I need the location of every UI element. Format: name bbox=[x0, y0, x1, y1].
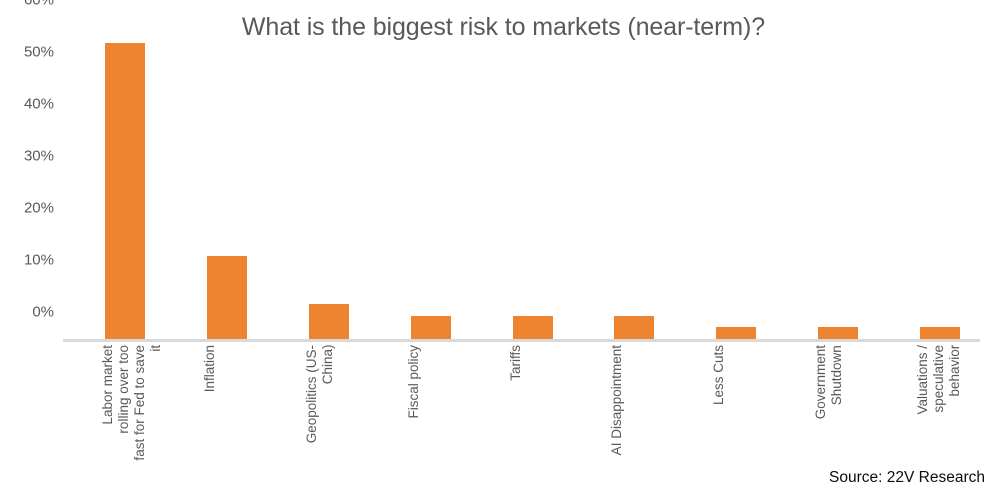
bar bbox=[513, 316, 553, 339]
x-axis-tick-label: Inflation bbox=[202, 345, 284, 493]
x-axis-tick-label-text: Geopolitics (US- China) bbox=[304, 345, 336, 443]
x-axis-baseline bbox=[63, 339, 980, 342]
y-axis-tick-label: 10% bbox=[24, 252, 54, 269]
y-axis-tick-label: 50% bbox=[24, 44, 54, 61]
x-axis-tick-label-text: Inflation bbox=[202, 345, 218, 392]
x-axis-tick-label: Labor market rolling over too fast for F… bbox=[100, 345, 182, 493]
bar bbox=[614, 316, 654, 339]
x-axis-tick-label-text: Tariffs bbox=[508, 345, 524, 381]
bar bbox=[411, 316, 451, 339]
y-axis-tick-label: 40% bbox=[24, 96, 54, 113]
y-axis-tick-label: 0% bbox=[32, 304, 54, 321]
x-axis-tick-label: Less Cuts bbox=[711, 345, 793, 493]
x-axis-tick-label-text: Fiscal policy bbox=[406, 345, 422, 419]
x-axis-tick-label: AI Disappointment bbox=[609, 345, 691, 493]
x-axis-tick-label: Tariffs bbox=[508, 345, 590, 493]
x-axis-tick-label-text: Less Cuts bbox=[711, 345, 727, 405]
x-axis-tick-label-text: Valuations / speculative behavior bbox=[915, 345, 963, 415]
bar bbox=[207, 256, 247, 339]
y-axis-tick-label: 30% bbox=[24, 148, 54, 165]
x-axis-tick-label: Fiscal policy bbox=[406, 345, 488, 493]
x-axis-tick-label: Geopolitics (US- China) bbox=[304, 345, 386, 493]
bar bbox=[716, 327, 756, 339]
y-axis: 60%50%40%30%20%10%0% bbox=[0, 0, 63, 342]
y-axis-tick-label: 60% bbox=[24, 0, 54, 9]
x-axis-tick-label-text: Labor market rolling over too fast for F… bbox=[100, 345, 164, 461]
bar bbox=[309, 304, 349, 339]
x-axis-tick-label-text: Government Shutdown bbox=[813, 345, 845, 419]
bar bbox=[818, 327, 858, 339]
bar bbox=[920, 327, 960, 339]
source-note: Source: 22V Research bbox=[829, 469, 985, 487]
bar bbox=[105, 43, 145, 339]
y-axis-tick-label: 20% bbox=[24, 200, 54, 217]
bar-chart-figure: What is the biggest risk to markets (nea… bbox=[0, 0, 1003, 495]
plot-area bbox=[63, 27, 980, 339]
x-axis-tick-label-text: AI Disappointment bbox=[609, 345, 625, 455]
